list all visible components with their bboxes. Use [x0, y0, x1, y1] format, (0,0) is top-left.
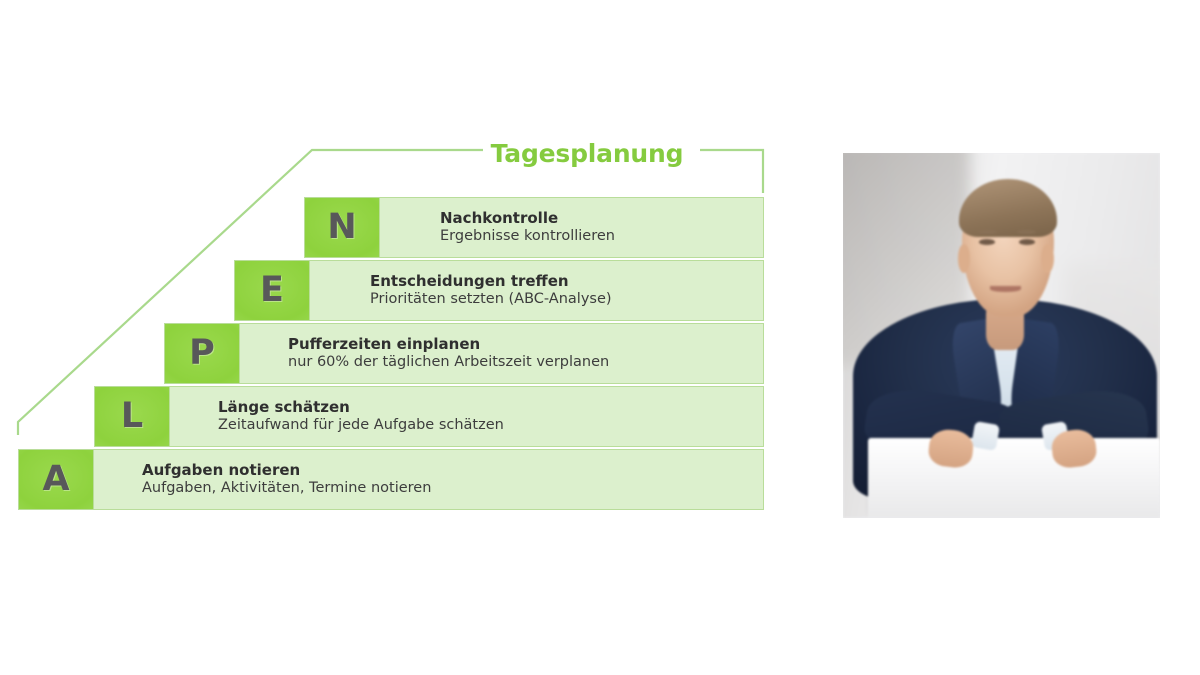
- step-letter-a: A: [42, 462, 69, 497]
- step-text-n: Nachkontrolle Ergebnisse kontrollieren: [380, 198, 763, 257]
- step-letter-tile-l: L: [94, 386, 170, 447]
- step-letter-l: L: [121, 399, 143, 434]
- step-text-p: Pufferzeiten einplanen nur 60% der tägli…: [240, 324, 763, 383]
- step-subtitle-a: Aufgaben, Aktivitäten, Termine notieren: [142, 479, 763, 498]
- page-title: Tagesplanung: [472, 139, 702, 168]
- step-subtitle-p: nur 60% der täglichen Arbeitszeit verpla…: [288, 353, 763, 372]
- step-letter-tile-p: P: [164, 323, 240, 384]
- step-title-n: Nachkontrolle: [440, 209, 763, 228]
- step-row-a[interactable]: A Aufgaben notieren Aufgaben, Aktivitäte…: [18, 449, 764, 510]
- photo-counter: [868, 438, 1160, 518]
- step-letter-tile-n: N: [304, 197, 380, 258]
- step-title-e: Entscheidungen treffen: [370, 272, 763, 291]
- photo-cuff-left: [971, 421, 1000, 451]
- step-letter-p: P: [189, 336, 215, 371]
- photo-eye-left: [979, 239, 995, 245]
- photo-eye-right: [1019, 239, 1035, 245]
- photo-ear-right: [1041, 244, 1054, 273]
- step-row-l[interactable]: L Länge schätzen Zeitaufwand für jede Au…: [94, 386, 764, 447]
- step-letter-e: E: [260, 273, 284, 308]
- step-subtitle-l: Zeitaufwand für jede Aufgabe schätzen: [218, 416, 763, 435]
- step-text-a: Aufgaben notieren Aufgaben, Aktivitäten,…: [94, 450, 763, 509]
- portrait-photo-content: [843, 153, 1160, 518]
- photo-mouth: [990, 286, 1020, 292]
- step-letter-n: N: [327, 210, 356, 245]
- photo-eyebrow-left: [978, 230, 997, 234]
- page-canvas: Tagesplanung N Nachkontrolle Ergebnisse …: [0, 0, 1200, 675]
- step-title-p: Pufferzeiten einplanen: [288, 335, 763, 354]
- step-text-l: Länge schätzen Zeitaufwand für jede Aufg…: [170, 387, 763, 446]
- step-row-e[interactable]: E Entscheidungen treffen Prioritäten set…: [234, 260, 764, 321]
- step-subtitle-n: Ergebnisse kontrollieren: [440, 227, 763, 246]
- step-title-a: Aufgaben notieren: [142, 461, 763, 480]
- step-text-e: Entscheidungen treffen Prioritäten setzt…: [310, 261, 763, 320]
- step-row-p[interactable]: P Pufferzeiten einplanen nur 60% der täg…: [164, 323, 764, 384]
- portrait-photo: [843, 153, 1160, 518]
- step-letter-tile-e: E: [234, 260, 310, 321]
- photo-eyebrow-right: [1017, 230, 1036, 234]
- alpen-staircase-diagram: Tagesplanung N Nachkontrolle Ergebnisse …: [0, 130, 800, 530]
- step-subtitle-e: Prioritäten setzten (ABC-Analyse): [370, 290, 763, 309]
- step-row-n[interactable]: N Nachkontrolle Ergebnisse kontrollieren: [304, 197, 764, 258]
- step-title-l: Länge schätzen: [218, 398, 763, 417]
- step-letter-tile-a: A: [18, 449, 94, 510]
